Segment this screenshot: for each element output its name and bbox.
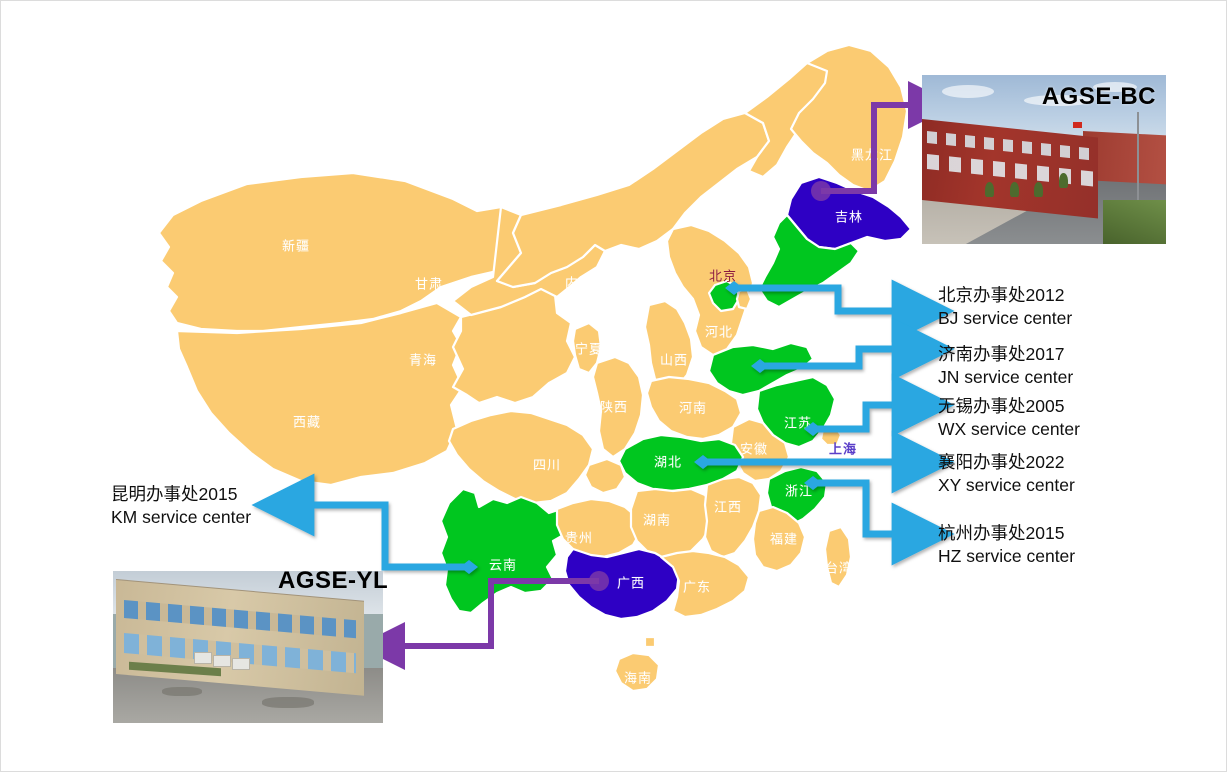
province-shanxi-sx [645, 301, 693, 389]
callout-hz-en: HZ service center [938, 545, 1075, 568]
province-label-hebei: 河北 [705, 322, 733, 341]
province-label-jiangsu: 江苏 [784, 413, 812, 432]
province-label-anhui: 安徽 [740, 439, 768, 458]
province-label-fujian: 福建 [770, 529, 798, 548]
figure-canvas: 新疆甘肃内蒙古黑龙江吉林青海宁夏山西河北北京西藏陕西河南江苏上海四川湖北安徽浙江… [0, 0, 1227, 772]
callout-jn-cn: 济南办事处2017 [938, 343, 1073, 366]
pavement-patch [262, 697, 314, 708]
lamp-post [1137, 112, 1139, 200]
callout-hz: 杭州办事处2015HZ service center [938, 522, 1075, 568]
province-label-neimenggu: 内蒙古 [565, 273, 607, 292]
callout-wx: 无锡办事处2005WX service center [938, 395, 1080, 441]
callout-jn-en: JN service center [938, 366, 1073, 389]
province-label-ningxia: 宁夏 [575, 339, 603, 358]
callout-jn: 济南办事处2017JN service center [938, 343, 1073, 389]
ac-unit [232, 658, 250, 670]
province-label-henan: 河南 [679, 398, 707, 417]
callout-hz-cn: 杭州办事处2015 [938, 522, 1075, 545]
island-dot [645, 637, 655, 647]
province-label-beijing: 北京 [709, 266, 737, 285]
callout-km-en: KM service center [111, 506, 251, 529]
province-jiangxi [705, 477, 761, 557]
province-label-shaanxi: 陕西 [600, 397, 628, 416]
province-label-taiwan: 台湾 [825, 558, 853, 577]
callout-km-cn: 昆明办事处2015 [111, 483, 251, 506]
province-label-guangdong: 广东 [683, 577, 711, 596]
province-label-yunnan: 云南 [489, 555, 517, 574]
province-label-guizhou: 贵州 [565, 528, 593, 547]
grass-verge [1103, 200, 1166, 244]
province-sichuan [449, 411, 593, 503]
shrub [1034, 182, 1043, 197]
province-label-gansu: 甘肃 [415, 274, 443, 293]
municipality-chongqing [585, 459, 625, 493]
province-label-heilongjiang: 黑龙江 [851, 145, 893, 164]
shrub [1010, 182, 1019, 197]
province-label-shanxi-sx: 山西 [660, 350, 688, 369]
callout-xy-cn: 襄阳办事处2022 [938, 451, 1075, 474]
municipality-tianjin [737, 289, 751, 309]
province-label-shanghai: 上海 [829, 439, 857, 458]
province-label-xinjiang: 新疆 [282, 236, 310, 255]
province-label-hubei: 湖北 [654, 452, 682, 471]
province-label-zhejiang: 浙江 [785, 481, 813, 500]
callout-bj-en: BJ service center [938, 307, 1072, 330]
callout-xy-en: XY service center [938, 474, 1075, 497]
province-yunnan [441, 489, 571, 613]
shrub [1059, 173, 1068, 188]
province-label-hainan: 海南 [624, 668, 652, 687]
callout-xy: 襄阳办事处2022XY service center [938, 451, 1075, 497]
callout-bj-cn: 北京办事处2012 [938, 284, 1072, 307]
province-label-xizang: 西藏 [293, 412, 321, 431]
photo-caption-agse-bc: AGSE-BC [1042, 83, 1156, 111]
callout-wx-en: WX service center [938, 418, 1080, 441]
province-label-qinghai: 青海 [409, 350, 437, 369]
province-label-jiangxi: 江西 [714, 497, 742, 516]
province-label-guangxi: 广西 [617, 573, 645, 592]
province-label-hunan: 湖南 [643, 510, 671, 529]
callout-km: 昆明办事处2015KM service center [111, 483, 251, 529]
photo-caption-agse-yl: AGSE-YL [278, 567, 388, 595]
ac-unit [213, 655, 231, 667]
pavement-patch [162, 687, 202, 696]
province-label-sichuan: 四川 [533, 455, 561, 474]
flag [1073, 122, 1082, 128]
province-label-jilin: 吉林 [835, 207, 863, 226]
callout-wx-cn: 无锡办事处2005 [938, 395, 1080, 418]
cloud [942, 85, 994, 98]
ac-unit [194, 652, 212, 664]
photo-agse-bc: AGSE-BC [922, 75, 1166, 244]
callout-bj: 北京办事处2012BJ service center [938, 284, 1072, 330]
